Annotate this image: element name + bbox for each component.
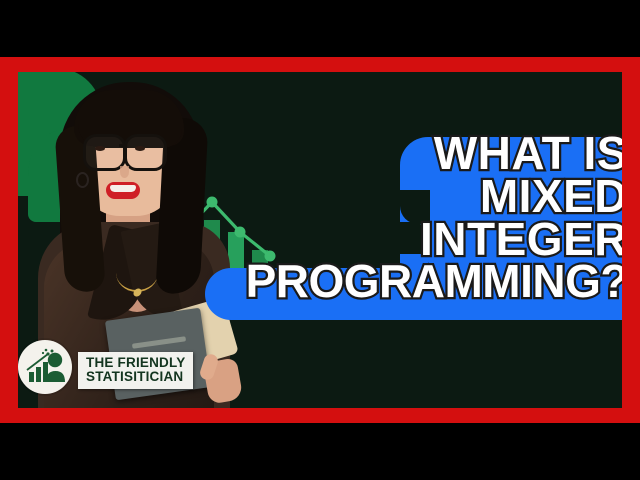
title-line-2: MIXED — [208, 175, 622, 218]
necklace — [116, 254, 158, 292]
eye-right — [135, 146, 145, 151]
title-line-3: INTEGER — [208, 218, 622, 261]
title-text: WHAT IS MIXED INTEGER PROGRAMMING? — [208, 132, 622, 303]
letterbox-bottom — [0, 423, 640, 480]
brand-line-2: STATISITICIAN — [86, 370, 185, 384]
video-thumbnail: WHAT IS MIXED INTEGER PROGRAMMING? — [0, 0, 640, 480]
nose — [120, 166, 129, 178]
red-border-right — [622, 57, 640, 423]
glasses-lens-right — [124, 134, 167, 171]
statistician-chart-person-icon — [18, 340, 72, 394]
teeth — [110, 185, 136, 192]
letterbox-top — [0, 0, 640, 57]
thumbnail-content: WHAT IS MIXED INTEGER PROGRAMMING? — [18, 72, 622, 408]
brand-line-1: THE FRIENDLY — [86, 356, 185, 370]
earring — [76, 172, 89, 188]
brand-label: THE FRIENDLY STATISITICIAN — [78, 352, 193, 389]
title-line-4: PROGRAMMING? — [208, 260, 622, 303]
title-line-1: WHAT IS — [208, 132, 622, 175]
glasses-bridge — [119, 144, 127, 147]
eye-left — [95, 146, 105, 151]
